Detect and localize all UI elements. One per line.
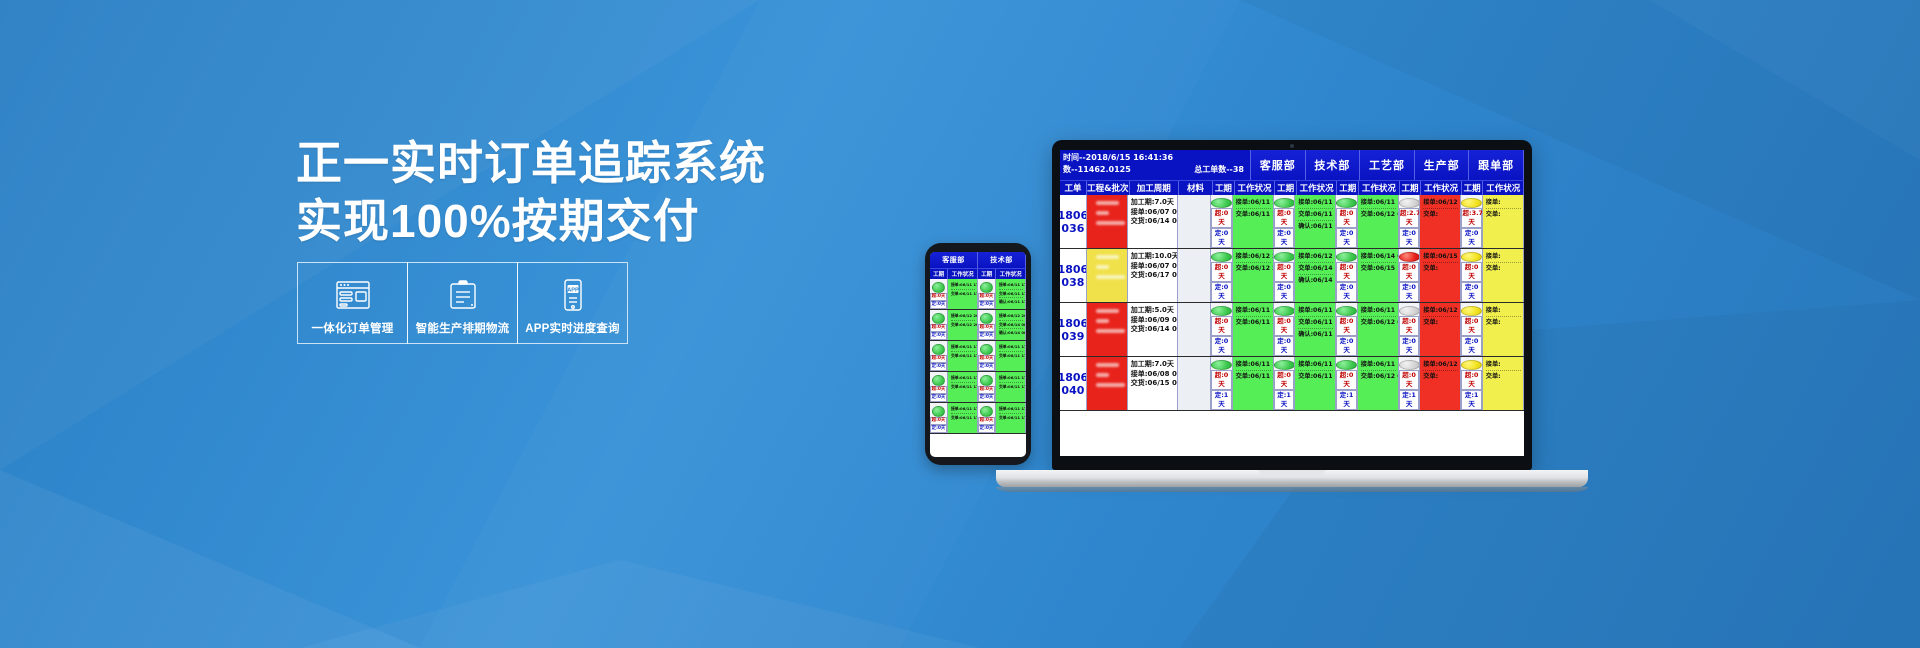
dept-status-cell-0[interactable]: 接单:06/11 17交单:06/11 17 <box>1233 303 1274 356</box>
status-indicator-green <box>980 406 993 417</box>
status-indicator-yellow <box>1461 306 1482 316</box>
dept-status-cell-1[interactable]: 接单:06/11 17交单:06/11 17确认:06/11 17 <box>1295 195 1336 248</box>
erp-col-duration-0[interactable]: 工期 <box>930 269 948 279</box>
dept-status-cell-2[interactable]: 接单:06/11 17交单:06/12 09 <box>1358 303 1399 356</box>
dept-duration-cell-0[interactable]: 超:0天定:0天 <box>1211 249 1232 302</box>
dept-duration-cell-1[interactable]: 超:0天定:1天 <box>1274 357 1295 410</box>
promo-banner: 正一实时订单追踪系统 实现100%按期交付 一体化订单管理 <box>0 0 1920 648</box>
fixed-tag: 定:0天 <box>978 425 995 433</box>
dept-duration-cell-4[interactable]: 超:0天定:1天 <box>1461 357 1482 410</box>
fixed-tag: 定:0天 <box>1211 336 1231 356</box>
overdue-tag: 超:0天 <box>1211 370 1231 390</box>
overdue-tag: 超:0天 <box>1211 208 1231 228</box>
erp-dept-header-0[interactable]: 客服部 <box>1251 150 1306 180</box>
status-indicator-green <box>980 282 993 293</box>
dept-duration-cell-1[interactable]: 超:0天定:0天 <box>1274 249 1295 302</box>
dept-status-cell-1[interactable]: 接单:06/11 17交单:06/11 17 <box>996 341 1026 371</box>
table-row[interactable]: 超:0天定:0天接单:06/12 20交单:06/12 20超:0天定:0天接单… <box>930 310 1026 341</box>
overdue-tag: 超:0天 <box>978 386 995 394</box>
table-row[interactable]: 超:0天定:0天接单:06/11 17交单:06/11 17超:0天定:0天接单… <box>930 341 1026 372</box>
fixed-tag: 定:0天 <box>930 363 947 371</box>
status-indicator-gray <box>1399 306 1420 316</box>
overdue-tag: 超:0天 <box>1274 262 1294 282</box>
overdue-tag: 超:0天 <box>1399 262 1419 282</box>
dept-duration-cell-1[interactable]: 超:0天定:0天 <box>978 341 996 371</box>
erp-header: 客服部技术部 <box>930 252 1026 268</box>
status-indicator-yellow <box>1461 252 1482 262</box>
dept-status-cell-0[interactable]: 接单:06/11 17交单:06/11 17 <box>1233 195 1274 248</box>
fixed-tag: 定:0天 <box>978 394 995 402</box>
status-indicator-green <box>980 344 993 355</box>
fixed-tag: 定:1天 <box>1399 390 1419 410</box>
dept-status-cell-1[interactable]: 接单:06/11 17交单:06/11 17 <box>1295 357 1336 410</box>
fixed-tag: 定:1天 <box>1274 390 1294 410</box>
overdue-tag: 超:0天 <box>1211 262 1231 282</box>
work-order-number[interactable]: 1806040 <box>1060 357 1087 410</box>
material-cell[interactable] <box>1178 195 1212 248</box>
overdue-tag: 超:0天 <box>1336 316 1356 336</box>
overdue-tag: 超:0天 <box>1336 208 1356 228</box>
phone-mockup: 客服部技术部工期工作状况工期工作状况超:0天定:0天接单:06/11 17交单:… <box>925 243 1031 465</box>
erp-dept-header-2[interactable]: 工艺部 <box>1360 150 1415 180</box>
erp-count: 数--11462.0125 <box>1063 164 1131 176</box>
dept-status-cell-3[interactable]: 接单:06/15 16交单: <box>1420 249 1461 302</box>
table-row[interactable]: 超:0天定:0天接单:06/11 17交单:06/11 17超:0天定:0天接单… <box>930 279 1026 310</box>
fixed-tag: 定:1天 <box>1461 390 1481 410</box>
status-indicator-green <box>1336 252 1357 262</box>
fixed-tag: 定:0天 <box>1461 228 1481 248</box>
overdue-tag: 超:0天 <box>978 293 995 301</box>
dept-duration-cell-1[interactable]: 超:0天定:0天 <box>978 403 996 433</box>
dept-status-cell-0[interactable]: 接单:06/11 17交单:06/11 17 <box>948 279 978 309</box>
dept-duration-cell-1[interactable]: 超:0天定:0天 <box>1274 195 1295 248</box>
dept-status-cell-0[interactable]: 接单:06/11 17交单:06/11 17 <box>1233 357 1274 410</box>
fixed-tag: 定:0天 <box>978 301 995 309</box>
dept-status-cell-4[interactable]: 接单:交单: <box>1483 303 1524 356</box>
table-row[interactable]: 超:0天定:0天接单:06/11 17交单:06/11 17超:0天定:0天接单… <box>930 372 1026 403</box>
status-indicator-green <box>980 313 993 324</box>
erp-col-1[interactable]: 工程&批次 <box>1087 181 1129 195</box>
overdue-tag: 超:0天 <box>1274 208 1294 228</box>
dept-duration-cell-3[interactable]: 超:0天定:0天 <box>1399 303 1420 356</box>
table-row[interactable]: 1806039加工期:5.0天接单:06/09 00交货:06/14 00超:0… <box>1060 303 1524 357</box>
laptop-screen[interactable]: 时间--2018/6/15 16:41:36数--11462.0125总工单数-… <box>1060 150 1524 456</box>
table-row[interactable]: 超:0天定:0天接单:06/11 17交单:06/11 17超:0天定:0天接单… <box>930 403 1026 434</box>
material-cell[interactable] <box>1178 357 1212 410</box>
fixed-tag: 定:0天 <box>930 425 947 433</box>
dept-status-cell-3[interactable]: 接单:06/12 09交单: <box>1420 195 1461 248</box>
status-indicator-gray <box>1399 360 1420 370</box>
dept-duration-cell-1[interactable]: 超:0天定:0天 <box>1274 303 1295 356</box>
status-indicator-green <box>932 282 945 293</box>
fixed-tag: 定:0天 <box>930 394 947 402</box>
project-batch-cell[interactable] <box>1087 249 1128 302</box>
dept-duration-cell-0[interactable]: 超:0天定:0天 <box>930 341 948 371</box>
overdue-tag: 超:0天 <box>930 417 947 425</box>
fixed-tag: 定:0天 <box>1274 336 1294 356</box>
processing-cycle-cell[interactable]: 加工期:7.0天接单:06/08 00交货:06/15 00 <box>1128 357 1178 410</box>
table-row[interactable]: 1806036加工期:7.0天接单:06/07 00交货:06/14 00超:0… <box>1060 195 1524 249</box>
overdue-tag: 超:0天 <box>1274 370 1294 390</box>
overdue-tag: 超:0天 <box>1461 316 1481 336</box>
erp-col-duration-2[interactable]: 工期 <box>1337 181 1359 195</box>
overdue-tag: 超:0天 <box>1211 316 1231 336</box>
fixed-tag: 定:0天 <box>978 332 995 340</box>
dept-duration-cell-2[interactable]: 超:0天定:0天 <box>1336 303 1357 356</box>
fixed-tag: 定:0天 <box>1461 336 1481 356</box>
fixed-tag: 定:0天 <box>930 332 947 340</box>
dept-status-cell-4[interactable]: 接单:交单: <box>1483 195 1524 248</box>
dept-status-cell-0[interactable]: 接单:06/11 17交单:06/11 17 <box>948 403 978 433</box>
fixed-tag: 定:0天 <box>1274 228 1294 248</box>
status-indicator-green <box>932 344 945 355</box>
device-mockups: 客服部技术部工期工作状况工期工作状况超:0天定:0天接单:06/11 17交单:… <box>0 0 1920 648</box>
laptop-foot <box>996 487 1588 492</box>
status-indicator-green <box>1274 252 1295 262</box>
dept-status-cell-2[interactable]: 接单:06/14 08交单:06/15 16 <box>1358 249 1399 302</box>
erp-col-duration-1[interactable]: 工期 <box>978 269 996 279</box>
erp-col-2[interactable]: 加工周期 <box>1130 181 1179 195</box>
status-indicator-red <box>1399 252 1420 262</box>
erp-col-status-2[interactable]: 工作状况 <box>1359 181 1400 195</box>
overdue-tag: 超:0天 <box>1336 262 1356 282</box>
status-indicator-green <box>932 375 945 386</box>
status-indicator-green <box>1274 360 1295 370</box>
erp-dept-header-0[interactable]: 客服部 <box>930 252 978 268</box>
overdue-tag: 超:0天 <box>978 324 995 332</box>
dept-duration-cell-3[interactable]: 超:2.7天定:0天 <box>1399 195 1420 248</box>
dept-status-cell-3[interactable]: 接单:06/12 09交单: <box>1420 357 1461 410</box>
overdue-tag: 超:0天 <box>930 293 947 301</box>
dept-duration-cell-0[interactable]: 超:0天定:0天 <box>930 279 948 309</box>
dept-duration-cell-4[interactable]: 超:0天定:0天 <box>1461 303 1482 356</box>
fixed-tag: 定:0天 <box>978 363 995 371</box>
phone-notch <box>961 245 995 252</box>
status-indicator-green <box>1211 252 1232 262</box>
overdue-tag: 超:0天 <box>1274 316 1294 336</box>
dept-status-cell-0[interactable]: 接单:06/12 20交单:06/12 20 <box>1233 249 1274 302</box>
dept-status-cell-4[interactable]: 接单:交单: <box>1483 357 1524 410</box>
erp-order-tracking-board[interactable]: 时间--2018/6/15 16:41:36数--11462.0125总工单数-… <box>1060 150 1524 456</box>
fixed-tag: 定:0天 <box>1336 282 1356 302</box>
erp-col-status-0[interactable]: 工作状况 <box>1235 181 1276 195</box>
laptop-base-notch <box>1259 470 1325 477</box>
erp-dept-header-1[interactable]: 技术部 <box>1306 150 1361 180</box>
erp-col-duration-1[interactable]: 工期 <box>1275 181 1297 195</box>
fixed-tag: 定:0天 <box>1211 228 1231 248</box>
dept-duration-cell-1[interactable]: 超:0天定:0天 <box>978 310 996 340</box>
laptop-base <box>996 470 1588 487</box>
status-indicator-yellow <box>1461 198 1482 208</box>
dept-duration-cell-0[interactable]: 超:0天定:0天 <box>1211 303 1232 356</box>
overdue-tag: 超:0天 <box>1336 370 1356 390</box>
erp-col-duration-0[interactable]: 工期 <box>1213 181 1235 195</box>
dept-duration-cell-3[interactable]: 超:0天定:0天 <box>1399 249 1420 302</box>
dept-status-cell-1[interactable]: 接单:06/12 20交单:06/14 08确认:06/14 08 <box>1295 249 1336 302</box>
laptop-mockup: 时间--2018/6/15 16:41:36数--11462.0125总工单数-… <box>1052 140 1532 470</box>
erp-col-status-1[interactable]: 工作状况 <box>1297 181 1338 195</box>
overdue-tag: 超:0天 <box>978 355 995 363</box>
dept-status-cell-3[interactable]: 接单:06/12 09交单: <box>1420 303 1461 356</box>
erp-dept-header-4[interactable]: 跟单部 <box>1469 150 1524 180</box>
overdue-tag: 超:0天 <box>1461 262 1481 282</box>
project-batch-cell[interactable] <box>1087 195 1128 248</box>
erp-subheader: 工期工作状况工期工作状况 <box>930 268 1026 279</box>
erp-header: 时间--2018/6/15 16:41:36数--11462.0125总工单数-… <box>1060 150 1524 180</box>
fixed-tag: 定:0天 <box>1399 282 1419 302</box>
erp-dept-header-3[interactable]: 生产部 <box>1415 150 1470 180</box>
processing-cycle-cell[interactable]: 加工期:5.0天接单:06/09 00交货:06/14 00 <box>1128 303 1178 356</box>
dept-duration-cell-2[interactable]: 超:0天定:0天 <box>1336 249 1357 302</box>
overdue-tag: 超:0天 <box>930 355 947 363</box>
status-indicator-green <box>1336 198 1357 208</box>
dept-duration-cell-2[interactable]: 超:0天定:1天 <box>1336 357 1357 410</box>
overdue-tag: 超:0天 <box>978 417 995 425</box>
phone-erp-board[interactable]: 客服部技术部工期工作状况工期工作状况超:0天定:0天接单:06/11 17交单:… <box>930 252 1026 457</box>
status-indicator-green <box>1336 360 1357 370</box>
overdue-tag: 超:0天 <box>1399 316 1419 336</box>
dept-duration-cell-0[interactable]: 超:0天定:0天 <box>1211 195 1232 248</box>
material-cell[interactable] <box>1178 249 1212 302</box>
fixed-tag: 定:0天 <box>1336 336 1356 356</box>
overdue-tag: 超:0天 <box>1461 370 1481 390</box>
phone-body: 客服部技术部工期工作状况工期工作状况超:0天定:0天接单:06/11 17交单:… <box>925 243 1031 465</box>
status-indicator-green <box>1211 360 1232 370</box>
fixed-tag: 定:0天 <box>1399 336 1419 356</box>
project-batch-cell[interactable] <box>1087 357 1128 410</box>
processing-cycle-cell[interactable]: 加工期:10.0天接单:06/07 00交货:06/17 00 <box>1128 249 1178 302</box>
material-cell[interactable] <box>1178 303 1212 356</box>
dept-duration-cell-4[interactable]: 超:3.7天定:0天 <box>1461 195 1482 248</box>
processing-cycle-cell[interactable]: 加工期:7.0天接单:06/07 00交货:06/14 00 <box>1128 195 1178 248</box>
status-indicator-green <box>1274 306 1295 316</box>
webcam-icon <box>1290 144 1294 148</box>
dept-duration-cell-0[interactable]: 超:0天定:0天 <box>930 310 948 340</box>
erp-col-status-1[interactable]: 工作状况 <box>996 269 1026 279</box>
erp-col-status-4[interactable]: 工作状况 <box>1483 181 1524 195</box>
dept-duration-cell-1[interactable]: 超:0天定:0天 <box>978 372 996 402</box>
erp-subheader: 工单工程&批次加工周期材料工期工作状况工期工作状况工期工作状况工期工作状况工期工… <box>1060 180 1524 195</box>
fixed-tag: 定:0天 <box>1336 228 1356 248</box>
erp-col-0[interactable]: 工单 <box>1060 181 1087 195</box>
dept-duration-cell-2[interactable]: 超:0天定:0天 <box>1336 195 1357 248</box>
dept-duration-cell-3[interactable]: 超:0天定:1天 <box>1399 357 1420 410</box>
status-indicator-green <box>1336 306 1357 316</box>
laptop-lid: 时间--2018/6/15 16:41:36数--11462.0125总工单数-… <box>1052 140 1532 470</box>
dept-status-cell-4[interactable]: 接单:交单: <box>1483 249 1524 302</box>
status-indicator-green <box>1274 198 1295 208</box>
erp-col-duration-4[interactable]: 工期 <box>1462 181 1484 195</box>
erp-body: 1806036加工期:7.0天接单:06/07 00交货:06/14 00超:0… <box>1060 195 1524 411</box>
dept-status-cell-2[interactable]: 接单:06/11 17交单:06/12 09 <box>1358 357 1399 410</box>
table-row[interactable]: 1806040加工期:7.0天接单:06/08 00交货:06/15 00超:0… <box>1060 357 1524 411</box>
fixed-tag: 定:0天 <box>1399 228 1419 248</box>
status-indicator-green <box>932 406 945 417</box>
dept-status-cell-1[interactable]: 接单:06/11 17交单:06/11 17 <box>996 403 1026 433</box>
project-batch-cell[interactable] <box>1087 303 1128 356</box>
fixed-tag: 定:0天 <box>930 301 947 309</box>
overdue-tag: 超:0天 <box>1399 370 1419 390</box>
dept-duration-cell-0[interactable]: 超:0天定:0天 <box>930 372 948 402</box>
dept-status-cell-1[interactable]: 接单:06/12 20交单:06/14 08确认:06/14 08 <box>996 310 1026 340</box>
erp-col-status-3[interactable]: 工作状况 <box>1421 181 1462 195</box>
overdue-tag: 超:0天 <box>930 386 947 394</box>
dept-duration-cell-0[interactable]: 超:0天定:0天 <box>930 403 948 433</box>
fixed-tag: 定:1天 <box>1211 390 1231 410</box>
erp-body: 超:0天定:0天接单:06/11 17交单:06/11 17超:0天定:0天接单… <box>930 279 1026 434</box>
erp-col-duration-3[interactable]: 工期 <box>1400 181 1422 195</box>
phone-screen[interactable]: 客服部技术部工期工作状况工期工作状况超:0天定:0天接单:06/11 17交单:… <box>930 252 1026 457</box>
dept-status-cell-2[interactable]: 接单:06/11 17交单:06/12 09 <box>1358 195 1399 248</box>
overdue-tag: 超:3.7天 <box>1461 208 1481 228</box>
status-indicator-green <box>1211 198 1232 208</box>
erp-col-status-0[interactable]: 工作状况 <box>948 269 978 279</box>
status-indicator-green <box>980 375 993 386</box>
erp-timestamp: 时间--2018/6/15 16:41:36 <box>1063 152 1248 164</box>
overdue-tag: 超:2.7天 <box>1399 208 1419 228</box>
overdue-tag: 超:0天 <box>930 324 947 332</box>
fixed-tag: 定:0天 <box>1274 282 1294 302</box>
dept-duration-cell-4[interactable]: 超:0天定:0天 <box>1461 249 1482 302</box>
dept-status-cell-0[interactable]: 接单:06/11 17交单:06/11 17 <box>948 372 978 402</box>
table-row[interactable]: 1806038加工期:10.0天接单:06/07 00交货:06/17 00超:… <box>1060 249 1524 303</box>
dept-duration-cell-0[interactable]: 超:0天定:1天 <box>1211 357 1232 410</box>
erp-dept-header-1[interactable]: 技术部 <box>978 252 1026 268</box>
erp-total-orders: 总工单数--38 <box>1194 164 1244 176</box>
status-indicator-yellow <box>1461 360 1482 370</box>
fixed-tag: 定:0天 <box>1461 282 1481 302</box>
status-indicator-green <box>1211 306 1232 316</box>
fixed-tag: 定:1天 <box>1336 390 1356 410</box>
work-order-number[interactable]: 1806039 <box>1060 303 1087 356</box>
dept-status-cell-0[interactable]: 接单:06/11 17交单:06/11 17 <box>948 341 978 371</box>
erp-meta: 时间--2018/6/15 16:41:36数--11462.0125总工单数-… <box>1060 150 1251 180</box>
fixed-tag: 定:0天 <box>1211 282 1231 302</box>
dept-status-cell-0[interactable]: 接单:06/12 20交单:06/12 20 <box>948 310 978 340</box>
status-indicator-gray <box>1399 198 1420 208</box>
erp-col-3[interactable]: 材料 <box>1179 181 1213 195</box>
dept-status-cell-1[interactable]: 接单:06/11 17交单:06/11 17确认:06/11 17 <box>996 279 1026 309</box>
dept-status-cell-1[interactable]: 接单:06/11 17交单:06/11 17 <box>996 372 1026 402</box>
work-order-number[interactable]: 1806038 <box>1060 249 1087 302</box>
status-indicator-green <box>932 313 945 324</box>
dept-status-cell-1[interactable]: 接单:06/11 17交单:06/11 17确认:06/11 17 <box>1295 303 1336 356</box>
work-order-number[interactable]: 1806036 <box>1060 195 1087 248</box>
dept-duration-cell-1[interactable]: 超:0天定:0天 <box>978 279 996 309</box>
